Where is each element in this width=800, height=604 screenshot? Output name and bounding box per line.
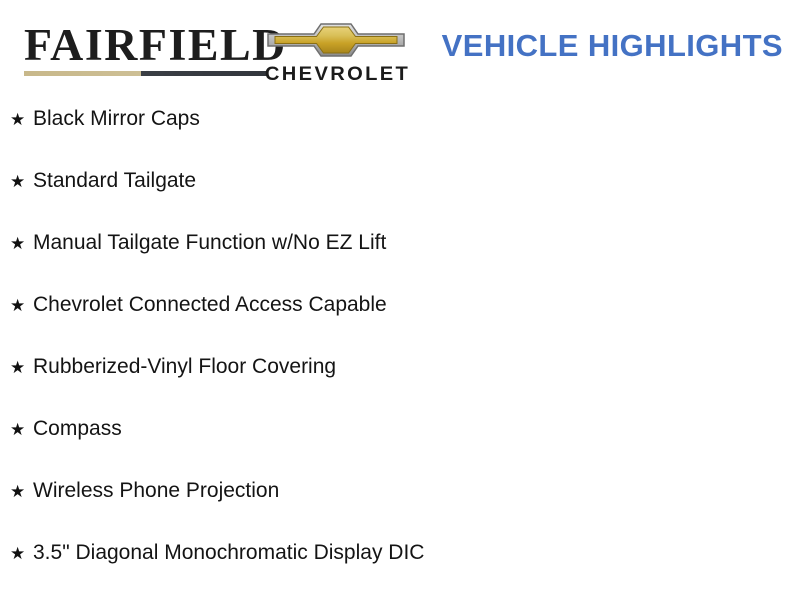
chevrolet-logo: CHEVROLET [266, 20, 406, 90]
page-title: VEHICLE HIGHLIGHTS [442, 28, 783, 64]
page-header: FAIRFIELD [0, 0, 800, 100]
star-icon: ★ [10, 173, 33, 190]
star-icon: ★ [10, 235, 33, 252]
list-item: ★ Compass [0, 418, 800, 480]
list-item: ★ Standard Tailgate [0, 170, 800, 232]
list-item-label: Chevrolet Connected Access Capable [33, 294, 387, 315]
list-item: ★ Wireless Phone Projection [0, 480, 800, 542]
bowtie-svg [266, 20, 406, 60]
dealer-logo-underline-rule [24, 71, 268, 76]
list-item-label: Rubberized-Vinyl Floor Covering [33, 356, 336, 377]
star-icon: ★ [10, 421, 33, 438]
list-item-label: Wireless Phone Projection [33, 480, 279, 501]
dealer-logo: FAIRFIELD [24, 22, 274, 76]
list-item-label: Compass [33, 418, 122, 439]
vehicle-highlights-list: ★ Black Mirror Caps ★ Standard Tailgate … [0, 108, 800, 604]
list-item: ★ 3.5" Diagonal Monochromatic Display DI… [0, 542, 800, 604]
star-icon: ★ [10, 297, 33, 314]
list-item: ★ Black Mirror Caps [0, 108, 800, 170]
list-item-label: 3.5" Diagonal Monochromatic Display DIC [33, 542, 424, 563]
list-item: ★ Manual Tailgate Function w/No EZ Lift [0, 232, 800, 294]
star-icon: ★ [10, 359, 33, 376]
star-icon: ★ [10, 111, 33, 128]
chevrolet-wordmark-text: CHEVROLET [265, 64, 409, 86]
list-item-label: Manual Tailgate Function w/No EZ Lift [33, 232, 386, 253]
star-icon: ★ [10, 545, 33, 562]
star-icon: ★ [10, 483, 33, 500]
list-item: ★ Chevrolet Connected Access Capable [0, 294, 800, 356]
chevrolet-bowtie-icon [266, 20, 406, 60]
list-item: ★ Rubberized-Vinyl Floor Covering [0, 356, 800, 418]
list-item-label: Standard Tailgate [33, 170, 196, 191]
dealer-name-text: FAIRFIELD [24, 22, 279, 68]
list-item-label: Black Mirror Caps [33, 108, 200, 129]
